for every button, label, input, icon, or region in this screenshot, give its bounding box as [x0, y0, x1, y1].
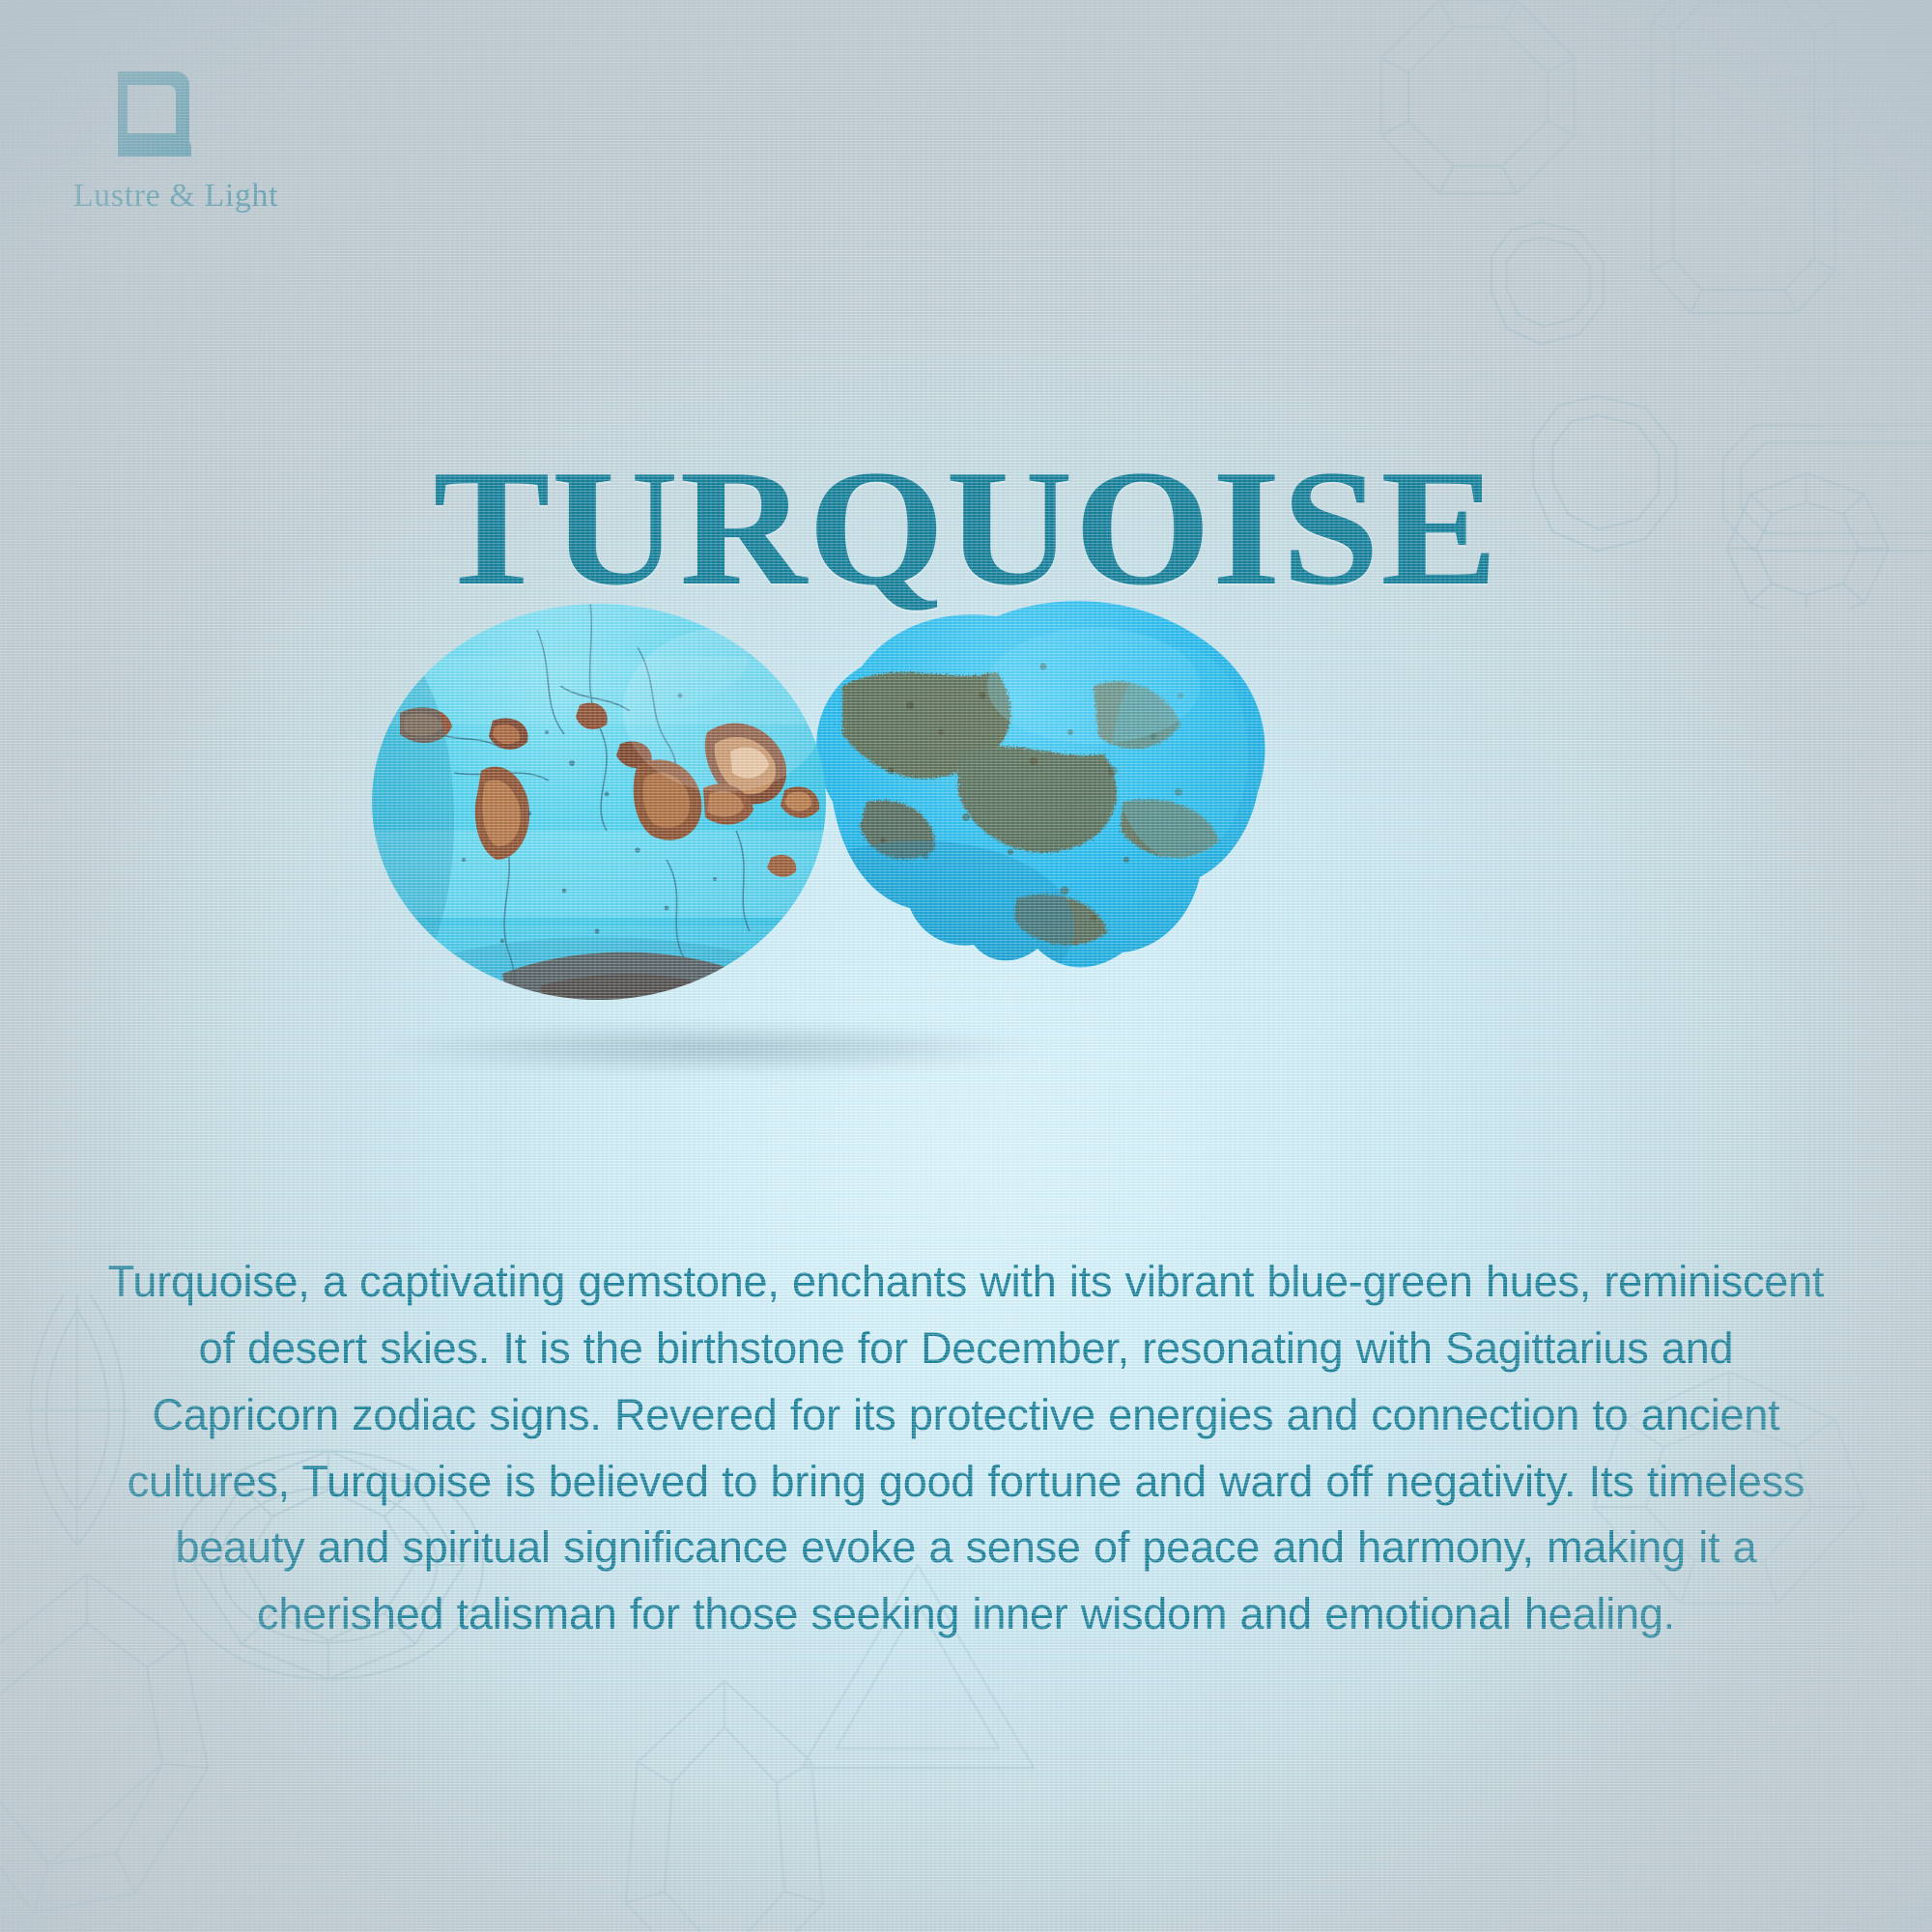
rough-turquoise-nugget — [775, 512, 1316, 1053]
brand-name: Lustre & Light — [50, 178, 301, 214]
poster-canvas: Lustre & Light TURQUOISE — [0, 0, 1932, 1932]
bracket-monogram-icon — [104, 56, 193, 164]
pear-cut-gem-outline — [626, 1681, 823, 1932]
octagon-cut-gem-outline — [1381, 0, 1575, 193]
polished-turquoise-cabochon — [348, 541, 850, 1043]
gemstone-illustration — [328, 599, 1294, 1140]
decagon-cut-gem-outline — [1492, 222, 1604, 344]
brand-logo[interactable]: Lustre & Light — [50, 56, 340, 214]
emerald-cut-gem-outline — [1652, 0, 1835, 313]
description-text: Turquoise, a captivating gemstone, encha… — [106, 1249, 1826, 1648]
